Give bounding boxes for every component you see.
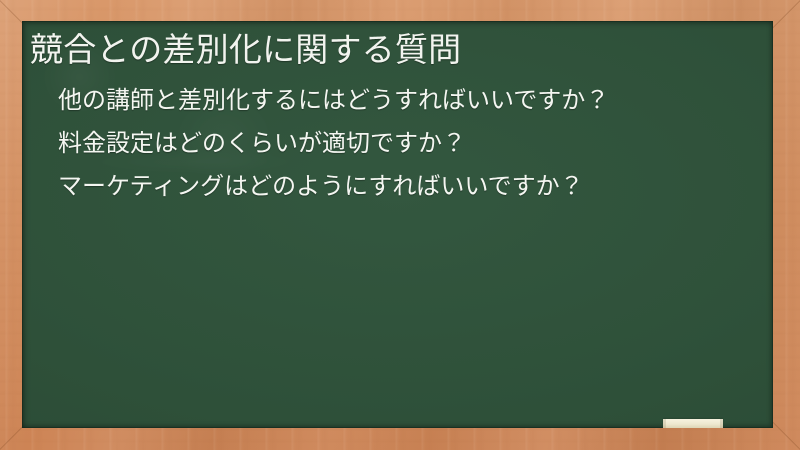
chalkboard-surface: 競合との差別化に関する質問 他の講師と差別化するにはどうすればいいですか？ 料金…: [22, 21, 773, 428]
question-item: マーケティングはどのようにすればいいですか？: [58, 170, 757, 203]
chalkboard-slide: 競合との差別化に関する質問 他の講師と差別化するにはどうすればいいですか？ 料金…: [0, 0, 800, 450]
question-item: 他の講師と差別化するにはどうすればいいですか？: [58, 84, 757, 117]
question-list: 他の講師と差別化するにはどうすればいいですか？ 料金設定はどのくらいが適切ですか…: [29, 84, 757, 203]
slide-title: 競合との差別化に関する質問: [29, 30, 757, 70]
slide-content: 競合との差別化に関する質問 他の講師と差別化するにはどうすればいいですか？ 料金…: [22, 21, 773, 428]
chalk-stick: [663, 419, 723, 428]
question-item: 料金設定はどのくらいが適切ですか？: [58, 127, 757, 160]
chalkboard-surface-wrapper: 競合との差別化に関する質問 他の講師と差別化するにはどうすればいいですか？ 料金…: [22, 21, 773, 428]
